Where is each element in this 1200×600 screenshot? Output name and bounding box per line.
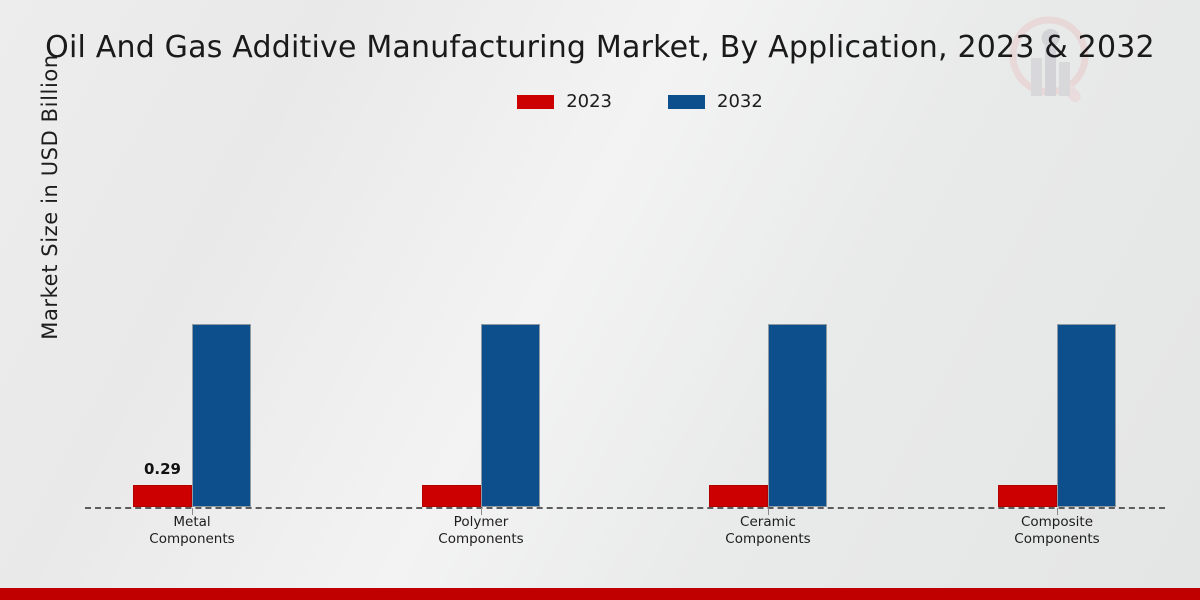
bar-2032-1[interactable] bbox=[192, 324, 251, 507]
x-tick-label-line1: Polymer bbox=[391, 514, 571, 531]
x-tick-label-2: PolymerComponents bbox=[391, 514, 571, 548]
x-tick-label-line2: Components bbox=[102, 531, 282, 548]
bar-2032-4[interactable] bbox=[1057, 324, 1116, 507]
bar-2023-2[interactable] bbox=[422, 485, 481, 507]
x-tick-label-4: CompositeComponents bbox=[967, 514, 1147, 548]
chart-container: Oil And Gas Additive Manufacturing Marke… bbox=[0, 0, 1200, 600]
x-tick-label-line2: Components bbox=[678, 531, 858, 548]
x-tick-label-line2: Components bbox=[391, 531, 571, 548]
x-tick-label-line2: Components bbox=[967, 531, 1147, 548]
bar-2023-1[interactable] bbox=[133, 485, 192, 507]
plot-area: 0.29 MetalComponentsPolymerComponentsCer… bbox=[0, 0, 1200, 600]
x-tick-label-line1: Metal bbox=[102, 514, 282, 531]
x-tick-label-3: CeramicComponents bbox=[678, 514, 858, 548]
bar-2023-4[interactable] bbox=[998, 485, 1057, 507]
footer-bar bbox=[0, 588, 1200, 600]
bar-2023-3[interactable] bbox=[709, 485, 768, 507]
x-axis-baseline bbox=[85, 507, 1165, 509]
bar-2032-2[interactable] bbox=[481, 324, 540, 507]
bar-2032-3[interactable] bbox=[768, 324, 827, 507]
x-tick-label-line1: Composite bbox=[967, 514, 1147, 531]
x-tick-label-1: MetalComponents bbox=[102, 514, 282, 548]
x-tick-label-line1: Ceramic bbox=[678, 514, 858, 531]
